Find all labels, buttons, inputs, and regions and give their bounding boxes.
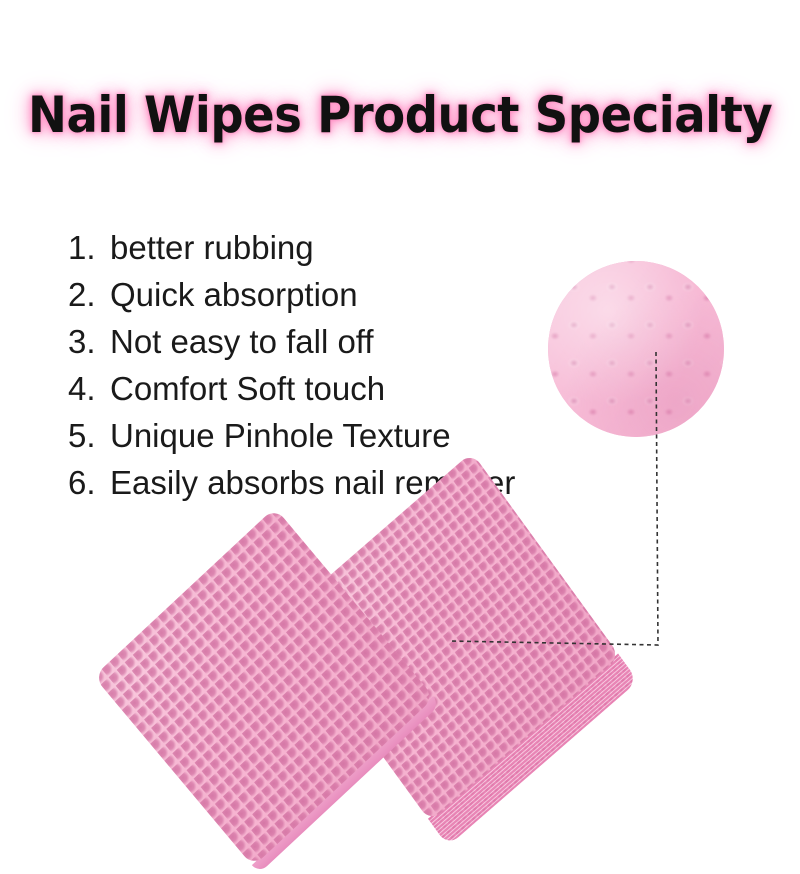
list-item-number: 5. (68, 412, 110, 459)
list-item-number: 2. (68, 271, 110, 318)
list-item-label: better rubbing (110, 224, 314, 271)
feature-list: 1. better rubbing 2. Quick absorption 3.… (68, 224, 515, 506)
list-item-number: 1. (68, 224, 110, 271)
list-item: 1. better rubbing (68, 224, 515, 271)
list-item-number: 4. (68, 365, 110, 412)
list-item: 3. Not easy to fall off (68, 318, 515, 365)
page-title: Nail Wipes Product Specialty (28, 86, 772, 144)
list-item-number: 3. (68, 318, 110, 365)
list-item: 4. Comfort Soft touch (68, 365, 515, 412)
list-item-number: 6. (68, 459, 110, 506)
list-item-label: Quick absorption (110, 271, 358, 318)
list-item-label: Not easy to fall off (110, 318, 374, 365)
texture-closeup-circle (548, 261, 724, 437)
product-specialty-poster: Nail Wipes Product Specialty 1. better r… (0, 0, 800, 800)
circle-sheen-overlay (548, 261, 724, 437)
product-photo (140, 505, 600, 800)
list-item-label: Unique Pinhole Texture (110, 412, 451, 459)
list-item: 2. Quick absorption (68, 271, 515, 318)
list-item: 5. Unique Pinhole Texture (68, 412, 515, 459)
list-item-label: Comfort Soft touch (110, 365, 385, 412)
